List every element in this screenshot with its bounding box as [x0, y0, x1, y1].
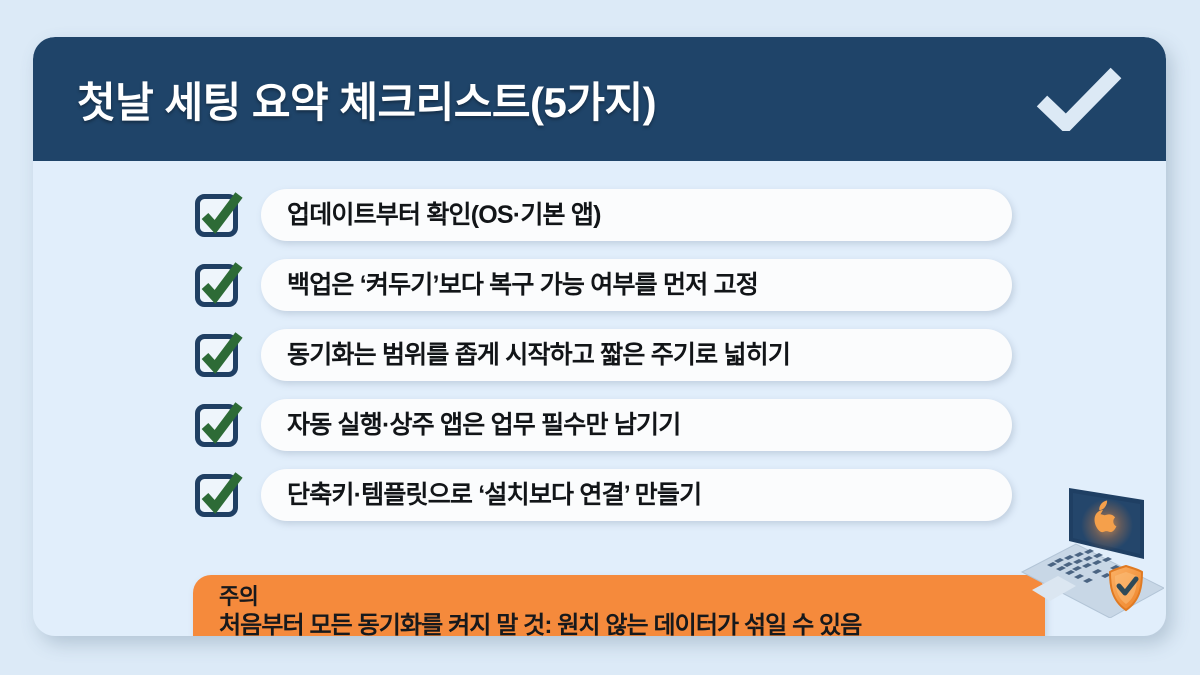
list-item[interactable]: 동기화는 범위를 좁게 시작하고 짧은 주기로 넓히기	[33, 329, 1166, 381]
page-title: 첫날 세팅 요약 체크리스트(5가지)	[77, 69, 656, 130]
check-mark-icon	[1036, 67, 1122, 131]
list-item-label: 백업은 ‘켜두기’보다 복구 가능 여부를 먼저 고정	[287, 273, 758, 298]
list-item-pill[interactable]: 자동 실행·상주 앱은 업무 필수만 남기기	[261, 399, 1012, 451]
list-item-pill[interactable]: 동기화는 범위를 좁게 시작하고 짧은 주기로 넓히기	[261, 329, 1012, 381]
checkbox-checked-icon[interactable]	[193, 330, 243, 380]
list-item-pill[interactable]: 단축키·템플릿으로 ‘설치보다 연결’ 만들기	[261, 469, 1012, 521]
list-item[interactable]: 단축키·템플릿으로 ‘설치보다 연결’ 만들기	[33, 469, 1166, 521]
warning-text: 처음부터 모든 동기화를 켜지 말 것: 원치 않는 데이터가 섞일 수 있음	[219, 611, 1019, 637]
warning-label: 주의	[219, 583, 1019, 611]
list-item-pill[interactable]: 업데이트부터 확인(OS·기본 앱)	[261, 189, 1012, 241]
list-item-label: 업데이트부터 확인(OS·기본 앱)	[287, 203, 601, 228]
checklist-card: 첫날 세팅 요약 체크리스트(5가지) 업데이트부터 확인(OS·기본 앱)	[33, 37, 1166, 636]
list-item[interactable]: 백업은 ‘켜두기’보다 복구 가능 여부를 먼저 고정	[33, 259, 1166, 311]
slide-background: 첫날 세팅 요약 체크리스트(5가지) 업데이트부터 확인(OS·기본 앱)	[0, 0, 1200, 675]
checkbox-checked-icon[interactable]	[193, 260, 243, 310]
security-shield-icon	[1110, 566, 1142, 610]
checkbox-checked-icon[interactable]	[193, 190, 243, 240]
list-item[interactable]: 자동 실행·상주 앱은 업무 필수만 남기기	[33, 399, 1166, 451]
list-item-pill[interactable]: 백업은 ‘켜두기’보다 복구 가능 여부를 먼저 고정	[261, 259, 1012, 311]
checklist: 업데이트부터 확인(OS·기본 앱) 백업은 ‘켜두기’보다 복구 가능 여부를…	[33, 161, 1166, 539]
list-item-label: 자동 실행·상주 앱은 업무 필수만 남기기	[287, 413, 680, 438]
card-header: 첫날 세팅 요약 체크리스트(5가지)	[33, 37, 1166, 161]
list-item-label: 단축키·템플릿으로 ‘설치보다 연결’ 만들기	[287, 483, 701, 508]
checkbox-checked-icon[interactable]	[193, 400, 243, 450]
checkbox-checked-icon[interactable]	[193, 470, 243, 520]
list-item-label: 동기화는 범위를 좁게 시작하고 짧은 주기로 넓히기	[287, 343, 790, 368]
warning-callout: 주의 처음부터 모든 동기화를 켜지 말 것: 원치 않는 데이터가 섞일 수 …	[193, 575, 1045, 636]
list-item[interactable]: 업데이트부터 확인(OS·기본 앱)	[33, 189, 1166, 241]
